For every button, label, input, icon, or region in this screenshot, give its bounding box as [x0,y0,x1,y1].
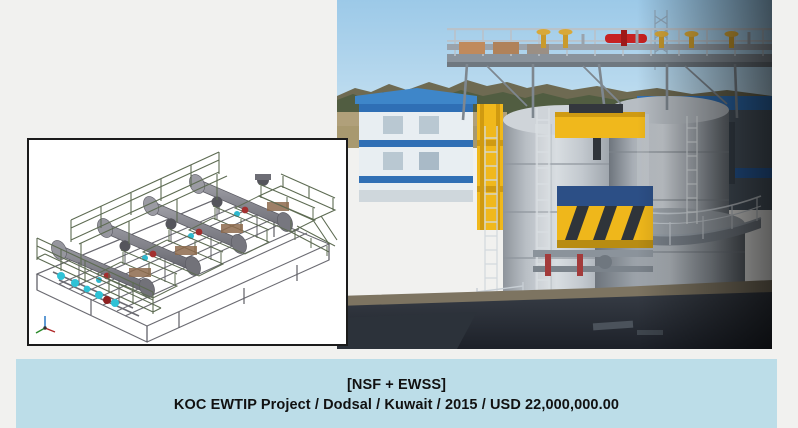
caption-title: [NSF + EWSS] [347,376,446,394]
industrial-plant-photo [337,0,772,349]
slide-canvas: [NSF + EWSS] KOC EWTIP Project / Dodsal … [0,0,798,428]
caption-band: [NSF + EWSS] KOC EWTIP Project / Dodsal … [16,359,777,428]
3d-cad-skid-drawing [27,138,348,346]
caption-details: KOC EWTIP Project / Dodsal / Kuwait / 20… [174,396,619,414]
